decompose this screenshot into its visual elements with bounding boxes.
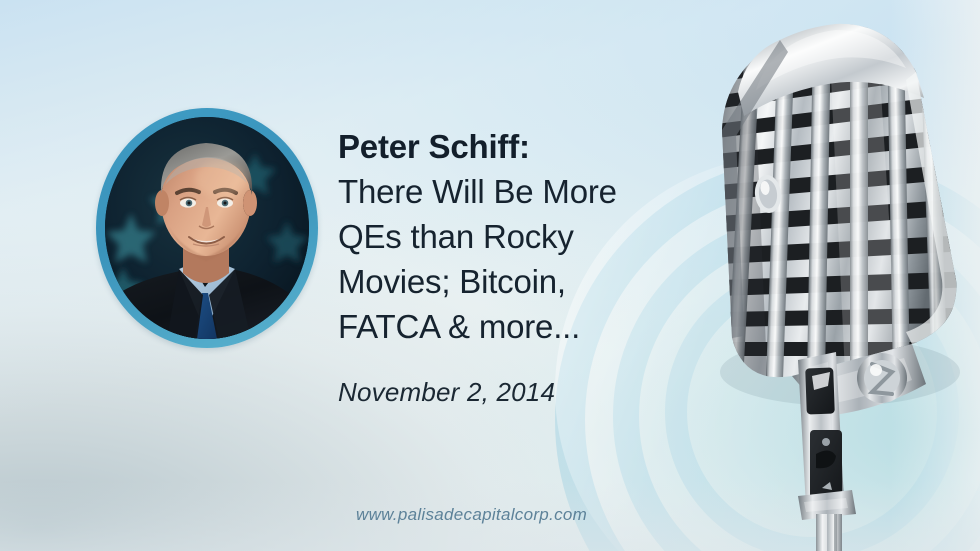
website-url: www.palisadecapitalcorp.com [356,505,587,525]
title-line-4: Movies; Bitcoin, [338,259,668,304]
slide-canvas: Peter Schiff: There Will Be More QEs tha… [0,0,980,551]
background-right-edge [890,0,980,551]
slide-date: November 2, 2014 [338,376,668,408]
title-line-3: QEs than Rocky [338,214,668,259]
portrait-illustration [105,117,309,339]
title-line-5: FATCA & more... [338,304,668,349]
avatar-photo [105,117,309,339]
title-line-1: Peter Schiff: [338,124,668,169]
title-line-2: There Will Be More [338,169,668,214]
avatar [96,108,318,348]
slide-text-block: Peter Schiff: There Will Be More QEs tha… [338,124,668,408]
